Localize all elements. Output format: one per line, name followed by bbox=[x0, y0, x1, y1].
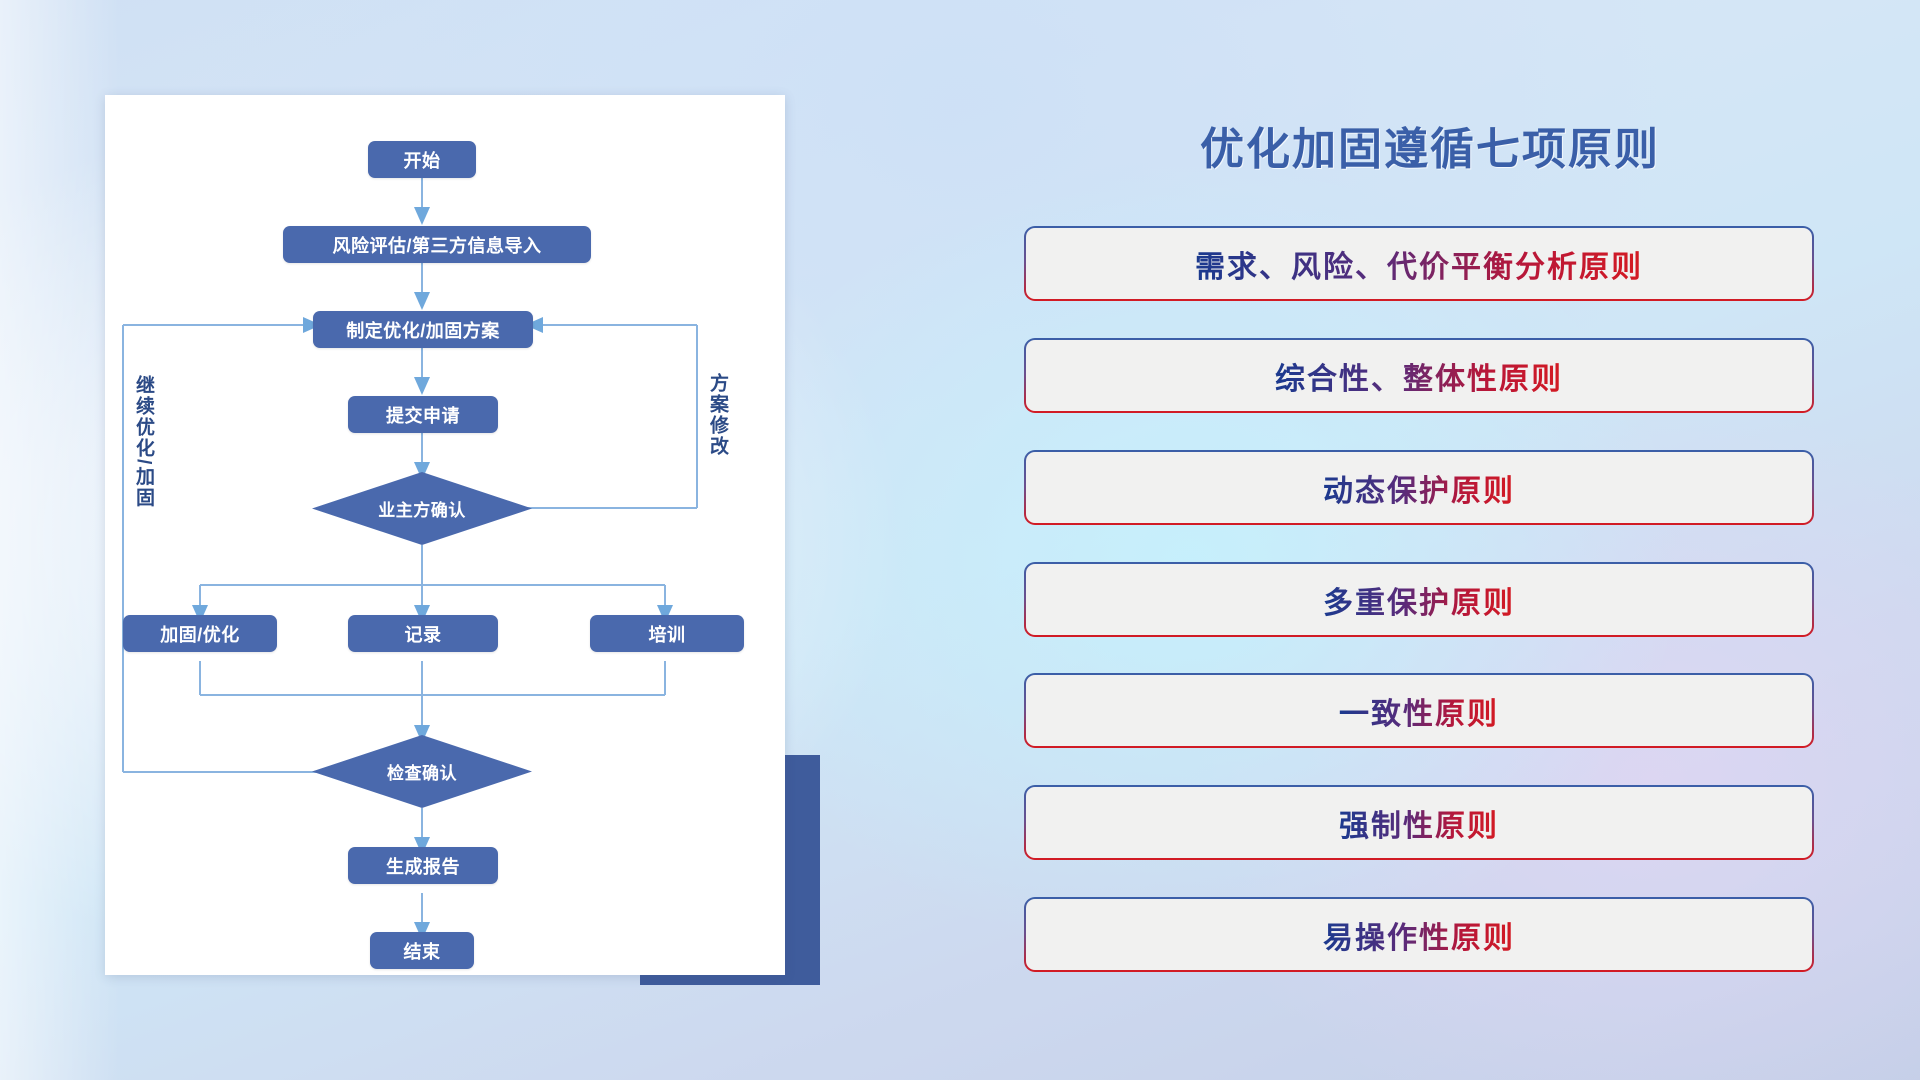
principle-item[interactable]: 多重保护原则 bbox=[1024, 562, 1814, 637]
flow-node-label: 结束 bbox=[404, 938, 441, 964]
principle-item[interactable]: 一致性原则 bbox=[1024, 673, 1814, 748]
flow-node-check-confirm[interactable]: 检查确认 bbox=[312, 735, 532, 808]
principle-label: 强制性原则 bbox=[1339, 801, 1499, 845]
flow-node-risk-assessment[interactable]: 风险评估/第三方信息导入 bbox=[283, 226, 591, 263]
flow-node-submit-application[interactable]: 提交申请 bbox=[348, 396, 498, 433]
flow-node-end[interactable]: 结束 bbox=[370, 932, 474, 969]
principle-label: 综合性、整体性原则 bbox=[1275, 354, 1563, 398]
flow-edge-label-right: 方案修改 bbox=[707, 373, 727, 483]
slide-canvas: 开始 风险评估/第三方信息导入 制定优化/加固方案 提交申请 业主方确认 加固/… bbox=[0, 0, 1920, 1080]
flow-node-training[interactable]: 培训 bbox=[590, 615, 744, 652]
flowchart-card: 开始 风险评估/第三方信息导入 制定优化/加固方案 提交申请 业主方确认 加固/… bbox=[105, 95, 785, 975]
principle-item[interactable]: 综合性、整体性原则 bbox=[1024, 338, 1814, 413]
principle-label: 动态保护原则 bbox=[1323, 466, 1515, 510]
flow-node-label: 记录 bbox=[405, 621, 442, 647]
panel-title: 优化加固遵循七项原则 bbox=[1010, 113, 1850, 177]
principles-panel: 优化加固遵循七项原则 需求、风险、代价平衡分析原则 综合性、整体性原则 动态保护… bbox=[1010, 95, 1850, 1025]
flow-edge-label-left: 继续优化/加固 bbox=[133, 375, 153, 525]
principle-label: 一致性原则 bbox=[1339, 689, 1499, 733]
flow-node-label: 加固/优化 bbox=[160, 621, 240, 647]
flow-node-start[interactable]: 开始 bbox=[368, 141, 476, 178]
flow-node-make-plan[interactable]: 制定优化/加固方案 bbox=[313, 311, 533, 348]
flow-node-label: 制定优化/加固方案 bbox=[346, 317, 500, 343]
flow-node-label: 生成报告 bbox=[386, 853, 460, 879]
flow-node-generate-report[interactable]: 生成报告 bbox=[348, 847, 498, 884]
principle-label: 需求、风险、代价平衡分析原则 bbox=[1195, 242, 1643, 286]
flow-node-label: 培训 bbox=[649, 621, 686, 647]
flow-node-label: 提交申请 bbox=[386, 402, 460, 428]
flow-node-label: 风险评估/第三方信息导入 bbox=[333, 232, 542, 258]
flow-node-owner-confirm[interactable]: 业主方确认 bbox=[312, 472, 532, 545]
flow-node-reinforce-optimize[interactable]: 加固/优化 bbox=[123, 615, 277, 652]
principle-label: 多重保护原则 bbox=[1323, 578, 1515, 622]
flow-node-label: 业主方确认 bbox=[312, 472, 532, 545]
flow-node-label: 检查确认 bbox=[312, 735, 532, 808]
principle-label: 易操作性原则 bbox=[1323, 913, 1515, 957]
principle-item[interactable]: 易操作性原则 bbox=[1024, 897, 1814, 972]
principle-item[interactable]: 动态保护原则 bbox=[1024, 450, 1814, 525]
principle-item[interactable]: 强制性原则 bbox=[1024, 785, 1814, 860]
flow-node-record[interactable]: 记录 bbox=[348, 615, 498, 652]
principle-item[interactable]: 需求、风险、代价平衡分析原则 bbox=[1024, 226, 1814, 301]
flow-node-label: 开始 bbox=[404, 147, 441, 173]
